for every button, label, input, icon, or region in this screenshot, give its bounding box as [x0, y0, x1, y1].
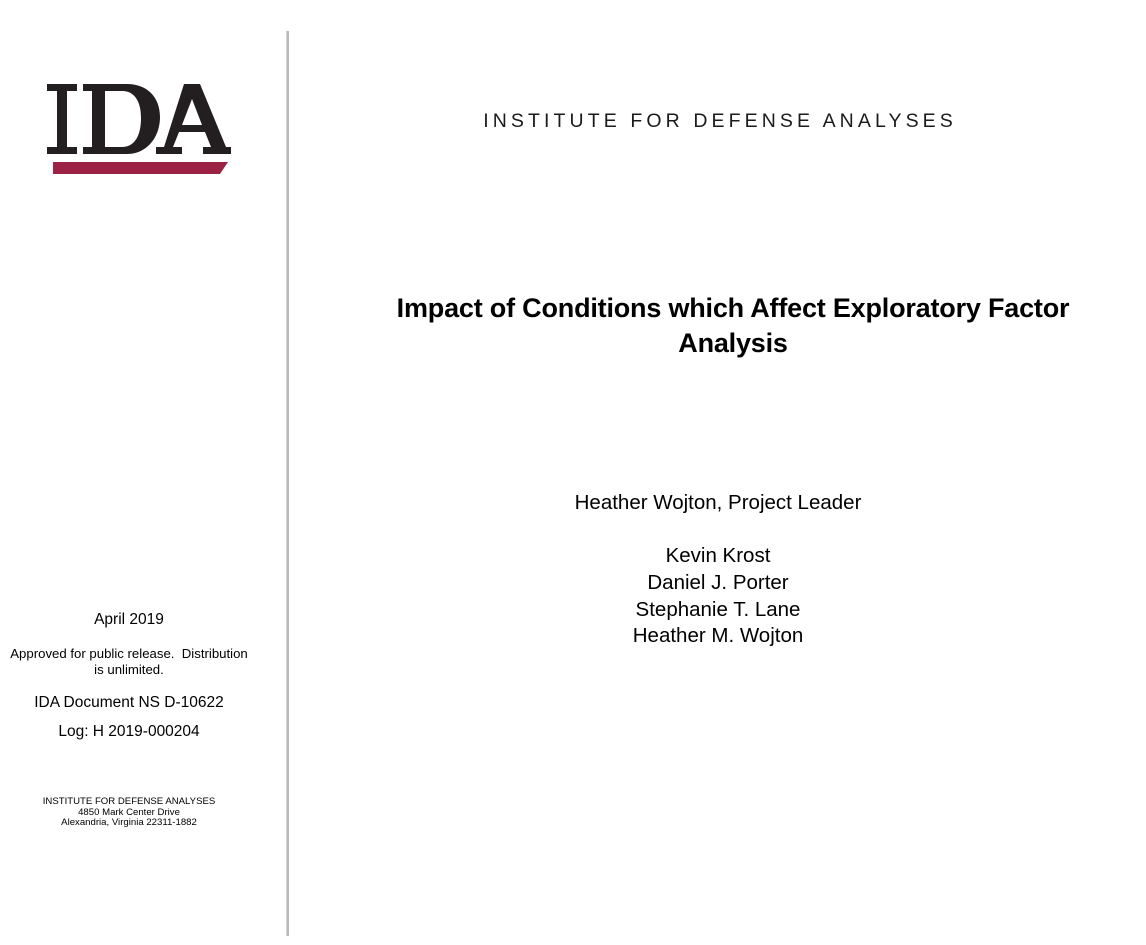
distribution-statement: Approved for public release. Distributio…: [0, 646, 258, 678]
log-number: Log: H 2019-000204: [0, 721, 258, 742]
author-block: Heather Wojton, Project Leader Kevin Kro…: [290, 489, 1146, 650]
ida-logo-accent-bar: [53, 162, 228, 174]
address-line-1: INSTITUTE FOR DEFENSE ANALYSES: [0, 797, 258, 808]
main-column: INSTITUTE FOR DEFENSE ANALYSES Impact of…: [290, 0, 1146, 945]
ida-logo-wordmark-icon: [45, 78, 231, 178]
page-title: Impact of Conditions which Affect Explor…: [348, 291, 1118, 361]
ida-logo: [0, 78, 276, 178]
document-metadata: April 2019 Approved for public release. …: [0, 609, 258, 742]
list-item: Stephanie T. Lane: [290, 597, 1146, 624]
publication-date: April 2019: [0, 609, 258, 630]
project-leader: Heather Wojton, Project Leader: [290, 489, 1146, 516]
author-list: Kevin Krost Daniel J. Porter Stephanie T…: [290, 543, 1146, 650]
list-item: Kevin Krost: [290, 543, 1146, 570]
list-item: Heather M. Wojton: [290, 623, 1146, 650]
address-line-3: Alexandria, Virginia 22311-1882: [0, 818, 258, 829]
vertical-divider: [286, 31, 289, 936]
list-item: Daniel J. Porter: [290, 570, 1146, 597]
organization-address: INSTITUTE FOR DEFENSE ANALYSES 4850 Mark…: [0, 797, 258, 829]
document-number: IDA Document NS D-10622: [0, 692, 258, 713]
left-column: April 2019 Approved for public release. …: [0, 0, 276, 945]
organization-header: INSTITUTE FOR DEFENSE ANALYSES: [290, 110, 1146, 133]
